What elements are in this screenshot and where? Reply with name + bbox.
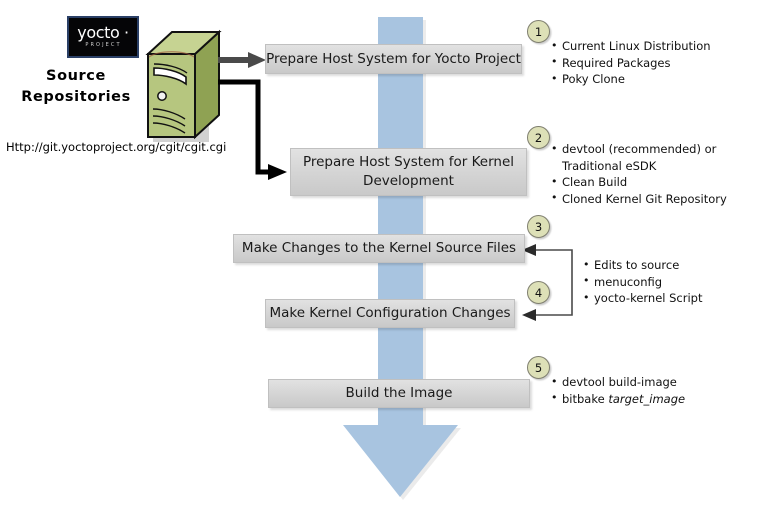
step-number-2: 2: [527, 126, 550, 149]
step-box-5-label: Build the Image: [346, 384, 453, 403]
step-number-1: 1: [527, 20, 550, 43]
source-repositories-label: Source Repositories: [12, 66, 140, 108]
step-number-2-value: 2: [535, 131, 542, 145]
step-box-1[interactable]: Prepare Host System for Yocto Project: [265, 44, 522, 74]
step-number-3: 3: [527, 215, 550, 238]
step-box-3-label: Make Changes to the Kernel Source Files: [242, 239, 516, 258]
list-item: devtool (recommended) or: [551, 141, 727, 158]
source-label-line-2: Repositories: [12, 87, 140, 108]
step-number-5: 5: [527, 356, 550, 379]
step-number-5-value: 5: [535, 361, 542, 375]
step-bullets-2: devtool (recommended) or Traditional eSD…: [551, 141, 727, 207]
step-number-4: 4: [527, 281, 550, 304]
list-item: yocto-kernel Script: [583, 290, 703, 307]
step-bullets-1: Current Linux Distribution Required Pack…: [551, 38, 711, 88]
server-icon: [134, 27, 226, 143]
connector-server-to-step2: [218, 82, 287, 180]
list-item: Poky Clone: [551, 71, 711, 88]
source-repositories-url: Http://git.yoctoproject.org/cgit/cgit.cg…: [6, 140, 226, 154]
list-item: bitbake target_image: [551, 391, 685, 408]
list-item: devtool build-image: [551, 374, 685, 391]
diagram-canvas: yocto · PROJECT Source Repositories Http…: [0, 0, 769, 517]
step-box-1-label: Prepare Host System for Yocto Project: [266, 50, 521, 69]
step-box-3[interactable]: Make Changes to the Kernel Source Files: [233, 234, 525, 263]
step-box-2-label-line-1: Prepare Host System for Kernel: [303, 153, 514, 172]
source-label-line-1: Source: [12, 66, 140, 87]
list-item-text: devtool build-image: [562, 375, 677, 389]
logo-wordmark: yocto ·: [77, 25, 129, 41]
list-item: Edits to source: [583, 257, 703, 274]
list-item-text: bitbake: [562, 392, 608, 406]
list-item: menuconfig: [583, 274, 703, 291]
step-box-2-label-line-2: Development: [363, 172, 454, 191]
step-box-4[interactable]: Make Kernel Configuration Changes: [265, 299, 515, 328]
yocto-project-logo: yocto · PROJECT: [67, 16, 139, 58]
step-number-1-value: 1: [535, 25, 542, 39]
list-item-continuation: Traditional eSDK: [551, 158, 727, 175]
step-box-2[interactable]: Prepare Host System for Kernel Developme…: [290, 148, 527, 196]
step-bullets-5: devtool build-image bitbake target_image: [551, 374, 685, 407]
step-number-3-value: 3: [535, 220, 542, 234]
step-number-4-value: 4: [535, 286, 542, 300]
list-item-emphasis: target_image: [608, 392, 685, 406]
list-item: Current Linux Distribution: [551, 38, 711, 55]
logo-subtext: PROJECT: [85, 42, 121, 49]
shared-bullets-steps-3-4: Edits to source menuconfig yocto-kernel …: [583, 257, 703, 307]
step-box-5[interactable]: Build the Image: [268, 379, 530, 408]
list-item: Cloned Kernel Git Repository: [551, 191, 727, 208]
connector-steps-3-4-bracket: [522, 244, 572, 321]
list-item: Clean Build: [551, 174, 727, 191]
list-item: Required Packages: [551, 55, 711, 72]
step-box-4-label: Make Kernel Configuration Changes: [269, 304, 510, 323]
